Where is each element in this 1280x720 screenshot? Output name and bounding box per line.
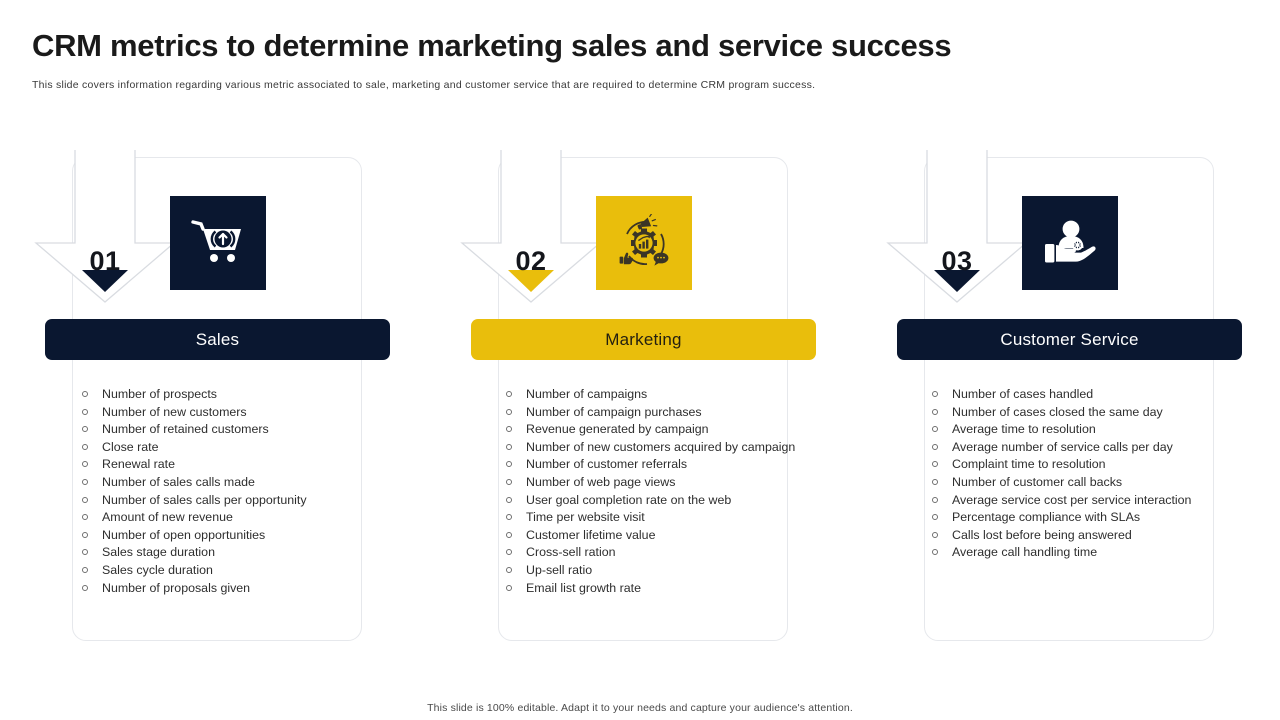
- footer-note: This slide is 100% editable. Adapt it to…: [0, 702, 1280, 714]
- list-item-label: Percentage compliance with SLAs: [952, 510, 1140, 524]
- bullet-icon: [82, 391, 88, 397]
- list-item-label: Number of web page views: [526, 475, 675, 489]
- list-item: Number of customer call backs: [930, 474, 1212, 492]
- bullet-icon: [506, 409, 512, 415]
- list-item-label: Number of campaigns: [526, 387, 647, 401]
- list-item-label: Time per website visit: [526, 510, 645, 524]
- bullet-icon: [82, 444, 88, 450]
- bullet-icon: [932, 426, 938, 432]
- bullet-icon: [506, 426, 512, 432]
- list-item: Amount of new revenue: [80, 509, 370, 527]
- list-item-label: Number of sales calls per opportunity: [102, 493, 307, 507]
- bullet-icon: [82, 532, 88, 538]
- columns-container: 01 Sales Number of prospects Number of n…: [0, 0, 1280, 720]
- icon-tile-sales: [170, 196, 266, 290]
- icon-tile-customer-service: [1022, 196, 1118, 290]
- bullet-icon: [506, 567, 512, 573]
- list-item: Average time to resolution: [930, 421, 1212, 439]
- list-item: Email list growth rate: [504, 580, 796, 598]
- list-item: Number of web page views: [504, 474, 796, 492]
- list-item: Sales stage duration: [80, 544, 370, 562]
- bullet-icon: [82, 426, 88, 432]
- step-arrow-marketing: [456, 150, 606, 310]
- list-item: Number of new customers: [80, 404, 370, 422]
- bullet-icon: [506, 514, 512, 520]
- list-item-label: Complaint time to resolution: [952, 457, 1106, 471]
- list-item-label: Number of new customers acquired by camp…: [526, 440, 795, 454]
- bullet-icon: [506, 461, 512, 467]
- metric-list-customer-service: Number of cases handled Number of cases …: [930, 386, 1212, 562]
- bullet-icon: [82, 585, 88, 591]
- list-item-label: Number of customer call backs: [952, 475, 1122, 489]
- list-item: Number of sales calls per opportunity: [80, 492, 370, 510]
- bullet-icon: [82, 567, 88, 573]
- list-item: Number of customer referrals: [504, 456, 796, 474]
- list-item: Number of cases closed the same day: [930, 404, 1212, 422]
- bullet-icon: [932, 461, 938, 467]
- marketing-gear-icon: [613, 214, 675, 272]
- bullet-icon: [932, 549, 938, 555]
- list-item: Time per website visit: [504, 509, 796, 527]
- step-arrow-sales: [30, 150, 180, 310]
- list-item: Close rate: [80, 439, 370, 457]
- list-item: Calls lost before being answered: [930, 527, 1212, 545]
- bullet-icon: [506, 391, 512, 397]
- list-item: Number of open opportunities: [80, 527, 370, 545]
- list-item: Revenue generated by campaign: [504, 421, 796, 439]
- bullet-icon: [932, 409, 938, 415]
- list-item-label: Amount of new revenue: [102, 510, 233, 524]
- list-item: Number of campaign purchases: [504, 404, 796, 422]
- step-arrow-customer-service: [882, 150, 1032, 310]
- bullet-icon: [506, 532, 512, 538]
- list-item-label: Sales cycle duration: [102, 563, 213, 577]
- list-item-label: Number of retained customers: [102, 422, 269, 436]
- list-item-label: Cross-sell ration: [526, 545, 616, 559]
- list-item: Up-sell ratio: [504, 562, 796, 580]
- list-item-label: Number of prospects: [102, 387, 217, 401]
- bullet-icon: [82, 549, 88, 555]
- bullet-icon: [932, 391, 938, 397]
- bullet-icon: [506, 497, 512, 503]
- list-item: Average service cost per service interac…: [930, 492, 1212, 510]
- list-item: Customer lifetime value: [504, 527, 796, 545]
- list-item-label: Sales stage duration: [102, 545, 215, 559]
- bullet-icon: [506, 479, 512, 485]
- list-item: Number of new customers acquired by camp…: [504, 439, 796, 457]
- list-item: Cross-sell ration: [504, 544, 796, 562]
- bullet-icon: [82, 514, 88, 520]
- bullet-icon: [932, 532, 938, 538]
- list-item-label: Calls lost before being answered: [952, 528, 1132, 542]
- bullet-icon: [82, 497, 88, 503]
- step-number-sales: 01: [30, 246, 180, 277]
- bullet-icon: [82, 461, 88, 467]
- list-item-label: Customer lifetime value: [526, 528, 655, 542]
- bullet-icon: [932, 497, 938, 503]
- bullet-icon: [506, 585, 512, 591]
- list-item-label: User goal completion rate on the web: [526, 493, 731, 507]
- bullet-icon: [932, 444, 938, 450]
- list-item-label: Number of new customers: [102, 405, 247, 419]
- list-item: Number of cases handled: [930, 386, 1212, 404]
- list-item: Renewal rate: [80, 456, 370, 474]
- list-item-label: Number of campaign purchases: [526, 405, 702, 419]
- bullet-icon: [506, 549, 512, 555]
- label-bar-customer-service[interactable]: Customer Service: [897, 319, 1242, 360]
- step-number-customer-service: 03: [882, 246, 1032, 277]
- customer-care-hand-icon: [1041, 217, 1099, 269]
- list-item-label: Revenue generated by campaign: [526, 422, 709, 436]
- list-item-label: Average service cost per service interac…: [952, 493, 1191, 507]
- list-item-label: Close rate: [102, 440, 158, 454]
- list-item-label: Average time to resolution: [952, 422, 1096, 436]
- bullet-icon: [932, 479, 938, 485]
- list-item: Average number of service calls per day: [930, 439, 1212, 457]
- list-item-label: Email list growth rate: [526, 581, 641, 595]
- list-item-label: Average call handling time: [952, 545, 1097, 559]
- column-customer-service: 03 Customer Service Number of cases hand…: [852, 0, 1278, 720]
- list-item: Number of proposals given: [80, 580, 370, 598]
- list-item-label: Number of cases closed the same day: [952, 405, 1163, 419]
- column-sales: 01 Sales Number of prospects Number of n…: [0, 0, 426, 720]
- list-item-label: Number of sales calls made: [102, 475, 255, 489]
- list-item: Average call handling time: [930, 544, 1212, 562]
- column-marketing: 02: [426, 0, 852, 720]
- icon-tile-marketing: [596, 196, 692, 290]
- list-item-label: Up-sell ratio: [526, 563, 592, 577]
- list-item: Complaint time to resolution: [930, 456, 1212, 474]
- list-item-label: Average number of service calls per day: [952, 440, 1173, 454]
- list-item: Number of campaigns: [504, 386, 796, 404]
- list-item-label: Renewal rate: [102, 457, 175, 471]
- label-bar-marketing[interactable]: Marketing: [471, 319, 816, 360]
- list-item-label: Number of cases handled: [952, 387, 1093, 401]
- list-item: Number of prospects: [80, 386, 370, 404]
- list-item: User goal completion rate on the web: [504, 492, 796, 510]
- label-bar-sales[interactable]: Sales: [45, 319, 390, 360]
- list-item: Number of sales calls made: [80, 474, 370, 492]
- bullet-icon: [82, 479, 88, 485]
- list-item: Number of retained customers: [80, 421, 370, 439]
- metric-list-marketing: Number of campaigns Number of campaign p…: [504, 386, 796, 597]
- step-number-marketing: 02: [456, 246, 606, 277]
- metric-list-sales: Number of prospects Number of new custom…: [80, 386, 370, 597]
- list-item-label: Number of customer referrals: [526, 457, 687, 471]
- bullet-icon: [506, 444, 512, 450]
- list-item: Percentage compliance with SLAs: [930, 509, 1212, 527]
- bullet-icon: [82, 409, 88, 415]
- list-item: Sales cycle duration: [80, 562, 370, 580]
- list-item-label: Number of proposals given: [102, 581, 250, 595]
- bullet-icon: [932, 514, 938, 520]
- shopping-cart-icon: [190, 217, 246, 269]
- list-item-label: Number of open opportunities: [102, 528, 265, 542]
